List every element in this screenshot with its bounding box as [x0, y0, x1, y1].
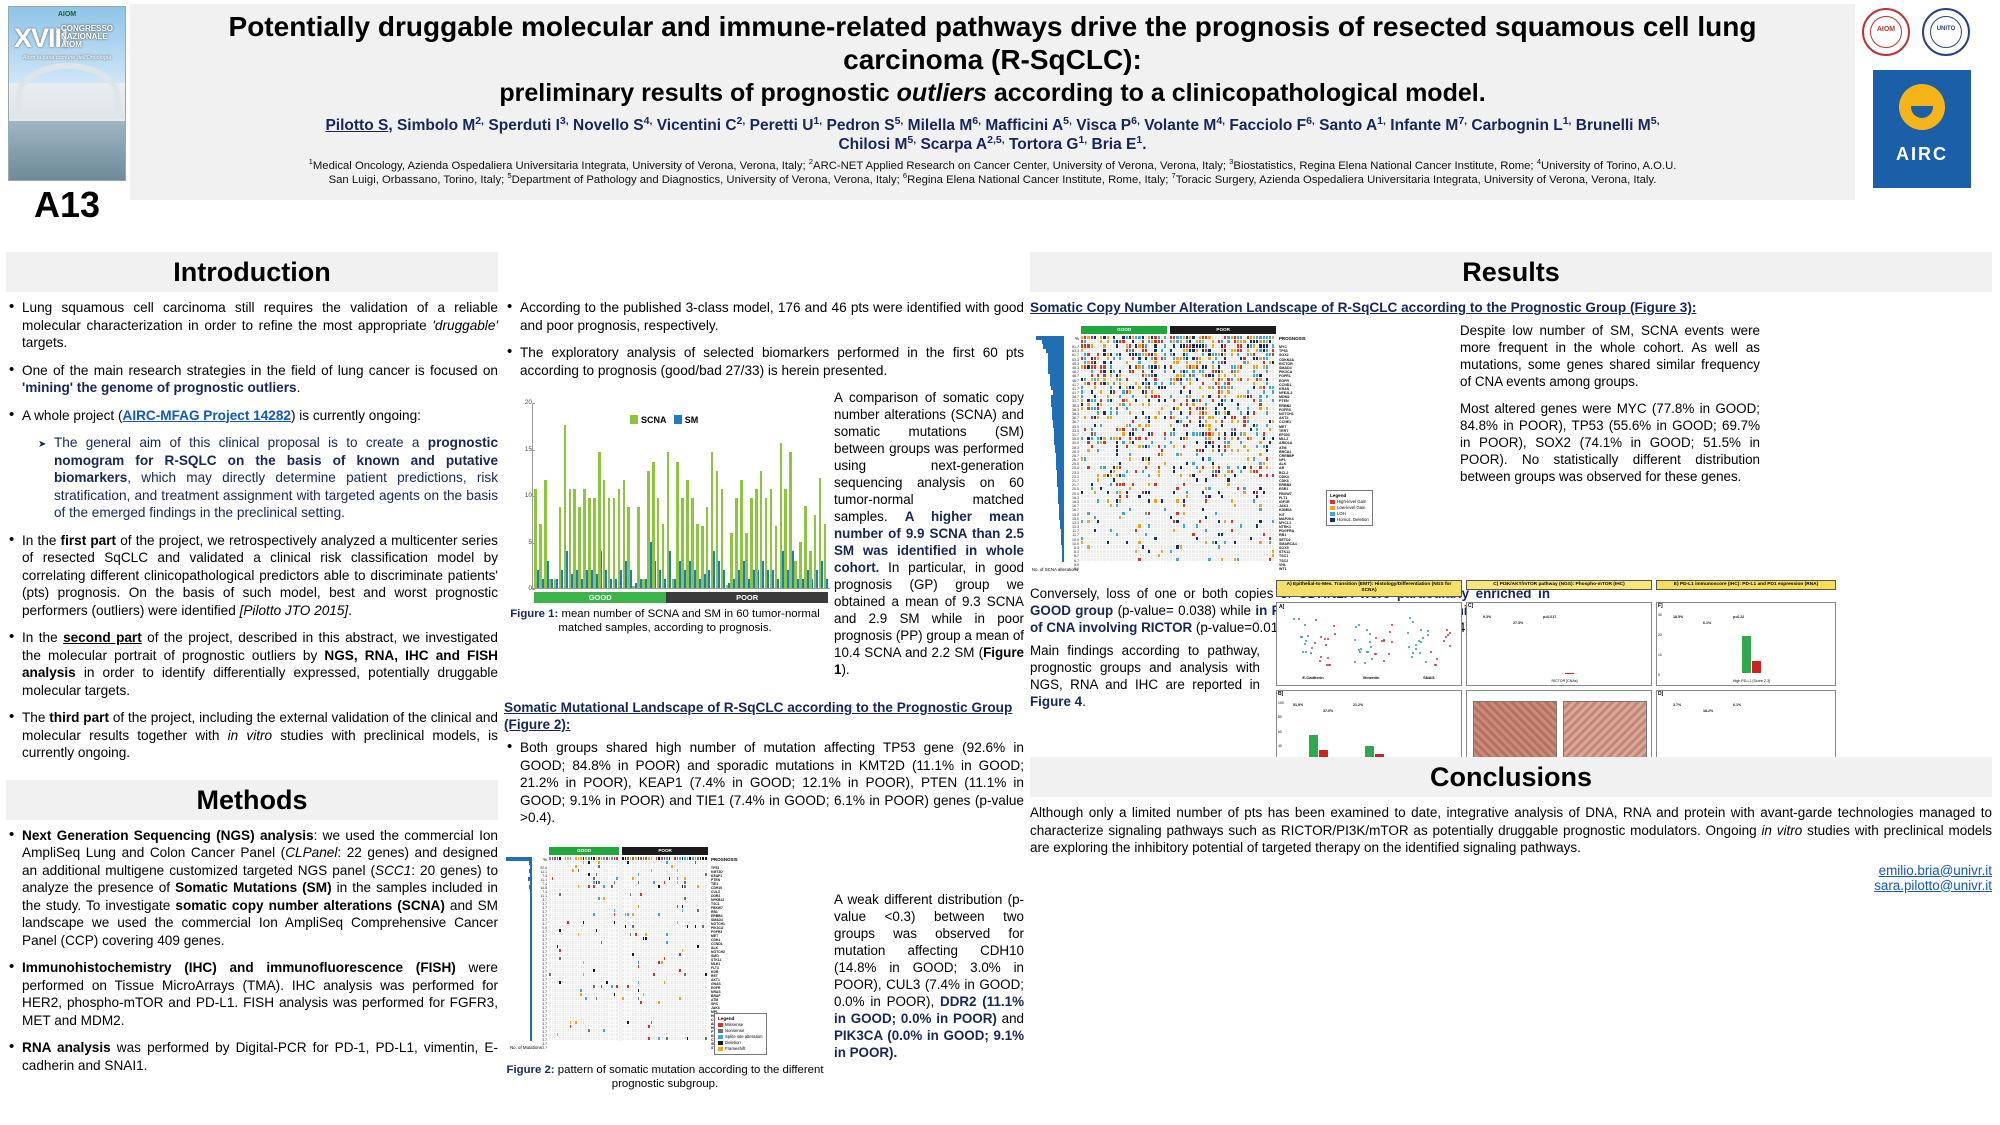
intro-sub-a: The general aim of this clinical proposa…: [54, 435, 428, 450]
intro-bullet-3: A whole project (AIRC-MFAG Project 14282…: [6, 407, 498, 425]
figure2-side-paragraph: A weak different distribution (p-value <…: [834, 891, 1024, 1061]
oncoprint-wrapper: %92.611.17.411.17.414.87.411.13.73.73.73…: [504, 843, 826, 1057]
oncoprint-percent-header: %: [1065, 336, 1079, 345]
figure1-caption-label: Figure 1:: [510, 608, 558, 620]
figure1-y-tick: 5: [510, 539, 532, 546]
figure2-caption-label: Figure 2:: [507, 1064, 555, 1076]
figure2-oncoprint: %92.611.17.411.17.414.87.411.13.73.73.73…: [504, 843, 826, 1057]
figure1-y-tick: 0: [510, 585, 532, 592]
figure3-row: %81.763.361.753.348.348.346.746.746.741.…: [1030, 322, 1992, 579]
oncoprint-legend-swatch: [718, 1047, 723, 1051]
aiom-seal-text: AIOM: [1864, 26, 1908, 33]
section-title-introduction: Introduction: [6, 252, 498, 292]
figure1-side-text: A comparison of somatic copy number alte…: [834, 389, 1024, 687]
affiliation-line-1: 1Medical Oncology, Azienda Ospedaliera U…: [146, 159, 1839, 173]
university-seal-text: UNITO: [1924, 26, 1968, 32]
intro-bullet-2: One of the main research strategies in t…: [6, 362, 498, 397]
intro-b4-end: .: [348, 603, 352, 618]
section-title-results: Results: [1030, 252, 1992, 292]
figure2-side-spacer: [834, 837, 1024, 891]
ngs-sm-bold: Somatic Mutations (SM): [175, 880, 332, 895]
oncoprint-percent-labels: %92.611.17.411.17.414.87.411.13.73.73.73…: [533, 857, 547, 1050]
figure1-group-label-poor: POOR: [666, 592, 828, 603]
fig2-side-a: A weak different distribution (p-value <…: [834, 892, 1024, 1009]
intro-bullet-4: In the first part of the project, we ret…: [6, 532, 498, 620]
intro-b4-bold: first part: [61, 533, 117, 548]
figure1-bar-sm: [826, 579, 828, 588]
oncoprint-frequency-bar: [530, 1037, 532, 1041]
figure1-bar-pair: [823, 405, 828, 588]
subtitle-part-a: preliminary results of prognostic: [499, 79, 896, 107]
methods-bullet-ihc: Immunohistochemistry (IHC) and immunoflu…: [6, 959, 498, 1029]
oncoprint-frequency-bar: [1062, 558, 1064, 562]
oncoprint-legend-swatch: [718, 1023, 723, 1027]
airc-label: AIRC: [1873, 144, 1971, 165]
figure1-chart: SCNA SM 20151050GOODPOOR: [510, 403, 830, 603]
oncoprint-legend-label: Frameshift: [725, 1046, 745, 1052]
intro-b5-a: In the: [22, 630, 63, 645]
author-list: Pilotto S, Simbolo M2, Sperduti I3, Nove…: [140, 116, 1845, 154]
fig2-side-c: and: [997, 1011, 1024, 1026]
intro-b6-bold: third part: [49, 710, 109, 725]
congress-name-line3: AIOM: [61, 41, 113, 49]
affiliation-line-2: San Luigi, Orbassano, Torino, Italy; 5De…: [146, 173, 1839, 187]
intro-sub-bullet: The general aim of this clinical proposa…: [22, 434, 498, 522]
figure2-caption-text: pattern of somatic mutation according to…: [555, 1064, 824, 1090]
title-line-1: Potentially druggable molecular and immu…: [229, 11, 1636, 42]
congress-roman-numeral: XVIII: [14, 23, 68, 54]
figure3-subheading: Somatic Copy Number Alteration Landscape…: [1030, 299, 1992, 316]
oncoprint-grid: [1081, 336, 1275, 562]
figure1-bar-scna: [613, 498, 616, 588]
figure2-block: %92.611.17.411.17.414.87.411.13.73.73.73…: [504, 837, 826, 1091]
oncoprint-legend-swatch: [718, 1029, 723, 1033]
author-line-1: Pilotto S, Simbolo M2, Sperduti I3, Nove…: [148, 116, 1837, 135]
intro-bullet-1: Lung squamous cell carcinoma still requi…: [6, 299, 498, 352]
fig1-side-a: A comparison of somatic copy number alte…: [834, 390, 1024, 524]
ngs-scc1: SCC1: [375, 863, 411, 878]
legend-label-scna: SCNA: [641, 415, 666, 425]
figure1-x-axis: [532, 588, 830, 589]
figure1-group-label-good: GOOD: [534, 592, 666, 603]
oncoprint-legend: LegendMissenseNonsenseSplite site altera…: [714, 1013, 767, 1055]
congress-logo: AIOM XVIII CONGRESSO NAZIONALE AIOM Aiom…: [8, 6, 126, 181]
figure2-bullet-1: Both groups shared high number of mutati…: [504, 739, 1024, 827]
oncoprint-legend-swatch: [718, 1041, 723, 1045]
figure1-legend: SCNA SM: [630, 415, 698, 425]
results-bullets: According to the published 3-class model…: [504, 299, 1024, 379]
oncoprint-header-poor: POOR: [1170, 326, 1276, 334]
legend-swatch-scna: [630, 415, 638, 424]
figure1-bar-scna: [569, 489, 572, 588]
aiom-small-label: AIOM: [9, 11, 125, 18]
figure3-oncoprint: %81.763.361.753.348.348.346.746.746.741.…: [1030, 322, 1450, 579]
column-left: Introduction Lung squamous cell carcinom…: [6, 252, 498, 1084]
intro-bullet-5: In the second part of the project, descr…: [6, 629, 498, 699]
fig2-side-pik3ca: PIK3CA (0.0% in GOOD; 9.1% in POOR).: [834, 1028, 1024, 1060]
oncoprint-frequency-bars: [504, 857, 532, 1041]
figure2-bullets: Both groups shared high number of mutati…: [504, 739, 1024, 827]
subtitle-outliers: outliers: [897, 79, 987, 107]
figure3-subheading-plain: (Figure 3):: [1626, 300, 1696, 315]
airc-logo: AIRC: [1873, 70, 1971, 188]
oncoprint-header-poor: POOR: [622, 847, 708, 855]
intro-b1-italic: 'druggable': [432, 318, 498, 333]
intro-b1-text: Lung squamous cell carcinoma still requi…: [22, 300, 498, 333]
intro-b6-italic: in vitro: [228, 728, 272, 743]
airc-project-link[interactable]: AIRC-MFAG Project 14282: [123, 408, 291, 423]
oncoprint-frequency-bars: [1030, 336, 1064, 562]
figure1-bar-scna: [578, 507, 581, 588]
figure1-y-tick: 10: [510, 492, 532, 499]
figure1-y-tick: 15: [510, 446, 532, 453]
intro-b4-a: In the: [22, 533, 61, 548]
oncoprint-legend-swatch: [718, 1035, 723, 1039]
intro-b1-end: targets.: [22, 335, 67, 350]
figure3-subheading-underlined: Somatic Copy Number Alteration Landscape…: [1030, 300, 1626, 315]
figure1-plot-area: [534, 405, 828, 588]
ngs-scna-bold: somatic copy number alterations (SCNA): [175, 898, 444, 913]
figure1-row: SCNA SM 20151050GOODPOOR Figure 1: mean …: [504, 389, 1024, 687]
figure2-side-text: A weak different distribution (p-value <…: [834, 837, 1024, 1091]
figure2-subheading: Somatic Mutational Landscape of R-SqCLC …: [504, 699, 1024, 733]
fig1-side-e: ).: [841, 662, 849, 677]
oncoprint-header-good: GOOD: [549, 847, 619, 855]
results-heading-spacer: [504, 252, 1024, 299]
congress-tagline: Aiom la casa comune dell'Oncologia: [9, 55, 125, 61]
column-right: Results Somatic Copy Number Alteration L…: [1030, 252, 1992, 642]
methods-bullet-rna: RNA analysis was performed by Digital-PC…: [6, 1039, 498, 1074]
ngs-clpanel: CLPanel: [285, 845, 337, 860]
university-seal-logo: UNITO: [1922, 8, 1970, 56]
first-author: Pilotto S: [325, 117, 388, 134]
legend-swatch-sm: [674, 415, 682, 424]
intro-b6-a: The: [22, 710, 49, 725]
figure2-subheading-underlined: Somatic Mutational Landscape of R-SqCLC …: [504, 700, 1012, 715]
column-middle: According to the published 3-class model…: [504, 252, 1024, 1091]
ihc-label: Immunohistochemistry (IHC) and immunoflu…: [22, 960, 456, 975]
rna-label: RNA analysis: [22, 1040, 111, 1055]
legend-label-sm: SM: [685, 415, 699, 425]
aiom-seal-logo: AIOM: [1862, 8, 1910, 56]
oncoprint-gene-header: PROGNOSIS: [711, 857, 738, 866]
poster-subtitle: preliminary results of prognostic outlie…: [140, 78, 1845, 109]
figure1-side-paragraph: A comparison of somatic copy number alte…: [834, 389, 1024, 678]
figure1-bar-scna: [637, 507, 640, 588]
author-line-2: Chilosi M5, Scarpa A2,5, Tortora G1, Bri…: [148, 135, 1837, 154]
oncoprint-percent-header: %: [533, 857, 547, 866]
oncoprint-row: [549, 1037, 708, 1041]
results-bullet-1: According to the published 3-class model…: [504, 299, 1024, 334]
intro-b2-end: .: [297, 380, 301, 395]
methods-bullets: Next Generation Sequencing (NGS) analysi…: [6, 827, 498, 1075]
oncoprint-grid: [549, 857, 708, 1041]
figure1-caption-text: mean number of SCNA and SM in 60 tumor-n…: [558, 608, 819, 634]
oncoprint-wrapper: %81.763.361.753.348.348.346.746.746.741.…: [1030, 322, 1450, 579]
figure1-bar-scna: [608, 498, 611, 588]
airc-emblem: [1899, 84, 1945, 130]
poster-header: AIOM XVIII CONGRESSO NAZIONALE AIOM Aiom…: [0, 0, 2000, 250]
intro-b2-bold: 'mining' the genome of prognostic outlie…: [22, 380, 297, 395]
figure3-block: %81.763.361.753.348.348.346.746.746.741.…: [1030, 322, 1450, 579]
oncoprint-legend-title: Legend: [718, 1016, 763, 1021]
intro-bullet-6: The third part of the project, including…: [6, 709, 498, 762]
figure1-y-tick: 20: [510, 399, 532, 406]
intro-b5-underline: second part: [63, 630, 142, 645]
water-illustration: [9, 121, 125, 180]
oncoprint-cell: [616, 1037, 619, 1041]
congress-name: CONGRESSO NAZIONALE AIOM: [61, 25, 113, 49]
oncoprint-percent-labels: %81.763.361.753.348.348.346.746.746.741.…: [1065, 336, 1079, 571]
results-bullet-2: The exploratory analysis of selected bio…: [504, 344, 1024, 379]
subtitle-part-b: according to a clinicopathological model…: [987, 79, 1486, 107]
poster-root: AIOM XVIII CONGRESSO NAZIONALE AIOM Aiom…: [0, 0, 2000, 1125]
ngs-label: Next Generation Sequencing (NGS) analysi…: [22, 828, 314, 843]
intro-b5-end: in order to identify differentially expr…: [22, 665, 498, 698]
intro-b3-text: A whole project (: [22, 408, 123, 423]
figure1-caption: Figure 1: mean number of SCNA and SM in …: [504, 607, 826, 635]
oncoprint-legend-item: Frameshift: [718, 1046, 763, 1052]
figure1-block: SCNA SM 20151050GOODPOOR Figure 1: mean …: [504, 389, 826, 687]
intro-b3-end: ) is currently ongoing:: [291, 408, 421, 423]
oncoprint-header-good: GOOD: [1081, 326, 1167, 334]
figure2-subheading-plain: (Figure 2):: [504, 717, 570, 732]
abstract-id: A13: [8, 184, 126, 226]
figure2-row: %92.611.17.411.17.414.87.411.13.73.73.73…: [504, 837, 1024, 1091]
intro-b2-text: One of the main research strategies in t…: [22, 363, 498, 378]
figure2-caption: Figure 2: pattern of somatic mutation ac…: [504, 1063, 826, 1091]
title-block: Potentially druggable molecular and immu…: [130, 4, 1855, 200]
intro-b4-citation: [Pilotto JTO 2015]: [240, 603, 349, 618]
methods-bullet-ngs: Next Generation Sequencing (NGS) analysi…: [6, 827, 498, 950]
introduction-bullets: Lung squamous cell carcinoma still requi…: [6, 299, 498, 762]
authors-rest-line1: , Simbolo M2, Sperduti I3, Novello S4, V…: [388, 117, 1659, 134]
oncoprint-cell: [705, 1037, 708, 1041]
section-title-methods: Methods: [6, 780, 498, 820]
oncoprint-axis-label: No. of Mutations: [504, 1045, 548, 1050]
affiliations: 1Medical Oncology, Azienda Ospedaliera U…: [140, 159, 1845, 187]
poster-title: Potentially druggable molecular and immu…: [140, 10, 1845, 76]
